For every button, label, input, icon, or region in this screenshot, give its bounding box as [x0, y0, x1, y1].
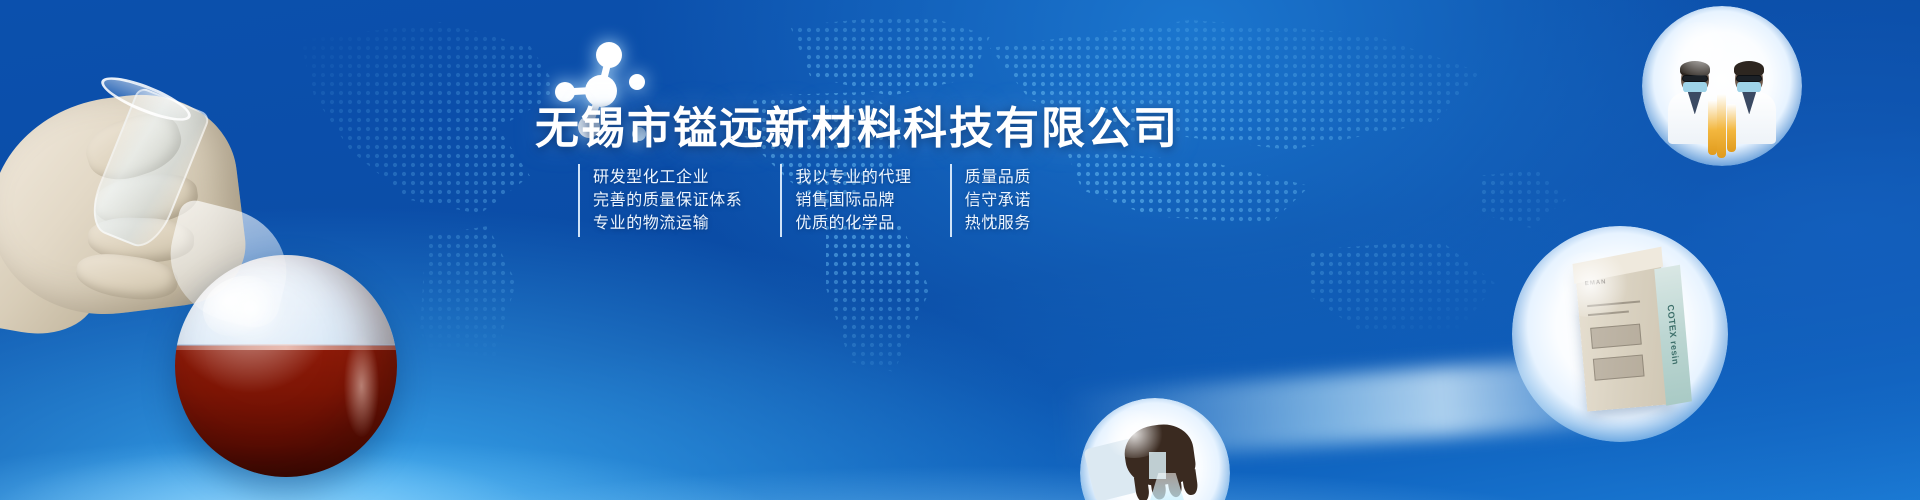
slogan-line: 热忱服务 — [965, 212, 1031, 235]
slogan-line: 我以专业的代理 — [795, 166, 911, 189]
slogan-line: 销售国际品牌 — [795, 189, 911, 212]
finger — [1181, 469, 1198, 496]
bag-side-stripe: COTEX resin — [1655, 264, 1693, 405]
glass-highlight — [344, 335, 380, 437]
bag-print-block — [1593, 355, 1645, 381]
bag-brand-text: EMAN — [1585, 279, 1607, 287]
resin-bag-bubble: EMAN COTEX resin — [1512, 226, 1728, 442]
scientists-photo — [1642, 6, 1802, 166]
slogan-line: 优质的化学品 — [795, 212, 911, 235]
test-tube-icon — [1727, 104, 1736, 152]
slogan-line: 完善的质量保证体系 — [593, 189, 742, 212]
bag-text-line — [1587, 300, 1641, 307]
scientist-head — [1681, 64, 1709, 94]
slogan-column-professional-agency: 我以专业的代理 销售国际品牌 优质的化学品 — [780, 164, 911, 237]
page-title: 无锡市镒远新材料科技有限公司 — [535, 92, 1179, 156]
bag-label-text: COTEX resin — [1666, 304, 1681, 366]
bag-text-line — [1588, 310, 1629, 316]
round-bottom-flask-bulb — [175, 255, 397, 477]
blue-flask-bubble — [1080, 398, 1230, 500]
slogan-line: 信守承诺 — [965, 189, 1031, 212]
slogan-columns: 研发型化工企业 完善的质量保证体系 专业的物流运输 我以专业的代理 销售国际品牌… — [578, 164, 1069, 237]
finger — [1133, 476, 1150, 500]
slogan-column-quality-commitment-service: 质量品质 信守承诺 热忱服务 — [950, 164, 1031, 237]
collar — [1688, 92, 1702, 115]
resin-bag: EMAN COTEX resin — [1575, 261, 1673, 411]
collar — [1742, 92, 1756, 115]
slogan-line: 研发型化工企业 — [593, 166, 742, 189]
bag-print-block — [1591, 323, 1643, 349]
scientist-head — [1735, 64, 1763, 94]
scientists-bubble — [1642, 6, 1802, 166]
slogan-column-rd-chemical-enterprise: 研发型化工企业 完善的质量保证体系 专业的物流运输 — [578, 164, 742, 237]
slogan-line: 专业的物流运输 — [593, 212, 742, 235]
resin-bag-photo: EMAN COTEX resin — [1512, 226, 1728, 442]
bag-top-fold — [1573, 247, 1663, 284]
company-banner: 无锡市镒远新材料科技有限公司 研发型化工企业 完善的质量保证体系 专业的物流运输… — [0, 0, 1920, 500]
test-tube-icon — [1708, 100, 1717, 154]
red-flask-scene — [0, 90, 410, 500]
blue-flask-photo — [1080, 398, 1230, 500]
slogan-line: 质量品质 — [965, 166, 1031, 189]
test-tube-icon — [1717, 94, 1726, 158]
